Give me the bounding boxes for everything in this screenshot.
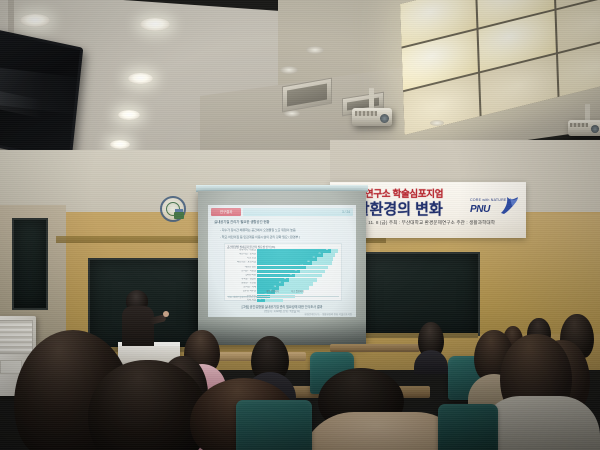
chart-bar-value: 32 xyxy=(279,282,281,284)
slide-section-tag: 연구결과 xyxy=(211,208,241,216)
chart-bar-value: 79 xyxy=(318,253,320,255)
projection-screen: 연구결과 3 / 24 실내공기질 관리가 필요한 생활공간 현황 - 다수가 … xyxy=(198,191,366,345)
recessed-downlight xyxy=(110,140,130,149)
chart-bar-primary xyxy=(257,266,306,270)
lecture-seat xyxy=(236,400,312,450)
chart-legend-item: 매우 필요하다 xyxy=(261,289,279,293)
chart-category-label: 실내주차장 xyxy=(227,274,257,278)
ceiling-mounted-monitor xyxy=(0,29,83,164)
chart-legend-swatch xyxy=(286,290,290,292)
chart-category-label: 음식점 · 카페 xyxy=(227,286,257,290)
chart-bar-value: 38 xyxy=(284,278,286,280)
chart-category-label: 지하역사 · 대합실 xyxy=(227,249,257,253)
chart-bar-track: 79 xyxy=(257,253,341,257)
chart-bar-value: 88 xyxy=(326,249,328,251)
chart-category-label: 영화관 · 공연장 xyxy=(227,282,257,286)
projector-vent xyxy=(570,123,588,127)
chart-bar-track: 9 xyxy=(257,299,341,303)
ac-cassette-grille xyxy=(287,83,327,106)
university-seal xyxy=(160,196,186,222)
slide-footer: 환경문제연구소 · 생활환경의 변화 학술심포지엄 xyxy=(305,312,352,316)
chart-bar-track: 66 xyxy=(257,261,341,265)
chart-bar-row: 목욕장 · 찜질방38 xyxy=(227,278,341,282)
recessed-downlight-ring xyxy=(430,120,444,126)
audience-torso xyxy=(480,396,600,450)
chart-bar-value: 45 xyxy=(290,274,292,276)
slide-page-number: 3 / 24 xyxy=(342,210,350,214)
projector-mount-rod xyxy=(369,88,374,110)
recessed-downlight-ring xyxy=(306,46,324,54)
presentation-slide: 연구결과 3 / 24 실내공기질 관리가 필요한 생활공간 현황 - 다수가 … xyxy=(208,205,356,317)
audience-member xyxy=(480,386,600,450)
chart-bar-track: 88 xyxy=(257,249,341,253)
projector-lens xyxy=(591,125,599,133)
chart-category-label: 의료기관 · 요양시설 xyxy=(227,261,257,265)
ceiling-projector xyxy=(352,108,392,126)
slide-chart: 공간유형별 실내공기질 관리 필요성 인식 (%) 지하역사 · 대합실88어린… xyxy=(224,243,342,301)
chart-bar-secondary xyxy=(284,282,313,286)
lecture-hall-photo: 환경연구소 학술심포지엄 생활환경의 변화 일시 : 2019. 11. 8 (… xyxy=(0,0,600,450)
chart-legend-item: 다소 필요하다 xyxy=(286,289,304,293)
chart-bar-track: 38 xyxy=(257,278,341,282)
chart-bar-value: 72 xyxy=(312,257,314,259)
chart-bar-secondary xyxy=(295,274,322,278)
chart-category-label: 목욕장 · 찜질방 xyxy=(227,278,257,282)
desk xyxy=(330,344,420,352)
chart-bar-row: 도서관 · 학습실51 xyxy=(227,270,341,274)
chart-bar-row: 학교 교실72 xyxy=(227,257,341,261)
chart-bar-value: 51 xyxy=(295,270,297,272)
chart-bar-row: 의료기관 · 요양시설66 xyxy=(227,261,341,265)
chart-legend-swatch xyxy=(261,290,265,292)
chart-category-label: 어린이집 · 유치원 xyxy=(227,253,257,257)
recessed-downlight xyxy=(20,14,50,27)
recessed-downlight-ring xyxy=(280,66,298,74)
slide-bullet-1: - 다수가 장시간 체류하는 공간에서 오염물질 노출 위험이 높음 xyxy=(220,227,296,232)
lecture-seat xyxy=(438,404,498,450)
chart-category-label: 학교 교실 xyxy=(227,257,257,261)
chart-bar-track: 72 xyxy=(257,257,341,261)
chart-bar-value: 26 xyxy=(274,286,276,288)
chart-bar-row: 대규모 점포58 xyxy=(227,266,341,270)
chart-legend: 매우 필요하다다소 필요하다 xyxy=(261,289,304,293)
slide-bullet-2: - 학교·어린이집 등 민감계층 이용시설의 관리 강화 필요 ( 환경부 ) xyxy=(220,234,300,239)
audience-torso xyxy=(414,350,448,374)
chart-bar-secondary xyxy=(331,249,339,253)
university-seal-ring xyxy=(166,202,180,216)
projector-lens xyxy=(380,114,389,123)
chart-source-note: 자료 : 환경부 실내공기질 관리 실태조사 (2018) xyxy=(228,296,267,299)
chart-category-label: 업무용 사무실 xyxy=(227,290,257,294)
chart-bar-track: 51 xyxy=(257,270,341,274)
pnu-logo: CORE with NATURE PNU xyxy=(468,196,520,222)
pnu-swoosh-icon xyxy=(498,196,520,216)
slide-title-bar: 3 / 24 xyxy=(243,208,353,216)
chart-bar-secondary xyxy=(265,299,283,303)
chart-bar-secondary xyxy=(306,266,329,270)
recessed-downlight xyxy=(128,73,153,84)
pnu-logo-wordmark: PNU xyxy=(470,204,490,215)
chart-bar-value: 58 xyxy=(301,265,303,267)
recessed-downlight xyxy=(118,110,140,120)
chart-bar-track: 58 xyxy=(257,266,341,270)
chart-bar-value: 66 xyxy=(307,261,309,263)
chart-legend-label: 다소 필요하다 xyxy=(291,289,304,293)
slide-bullet-0: 실내공기질 관리가 필요한 생활공간 현황 xyxy=(214,220,269,225)
chart-bar-row: 지하역사 · 대합실88 xyxy=(227,249,341,253)
chart-bar-row: 어린이집 · 유치원79 xyxy=(227,253,341,257)
chart-legend-label: 매우 필요하다 xyxy=(266,289,279,293)
chart-bar-row: 영화관 · 공연장32 xyxy=(227,282,341,286)
presenter-hand xyxy=(163,311,169,317)
chart-category-label: 도서관 · 학습실 xyxy=(227,270,257,274)
chart-bar-secondary xyxy=(300,270,325,274)
audience-member xyxy=(414,322,448,362)
chart-bar-secondary xyxy=(323,253,335,257)
chart-bar-secondary xyxy=(289,278,318,282)
chart-category-label: 대규모 점포 xyxy=(227,266,257,270)
recessed-downlight xyxy=(140,18,170,31)
chart-bar-primary xyxy=(257,270,300,274)
chart-bar-secondary xyxy=(312,261,331,265)
chart-bar-track: 32 xyxy=(257,282,341,286)
university-seal-mark xyxy=(174,212,184,219)
blackboard xyxy=(12,218,48,310)
chart-bar-secondary xyxy=(317,257,333,261)
ceiling-projector xyxy=(568,120,600,136)
projector-vent xyxy=(355,111,377,116)
chart-bar-track: 45 xyxy=(257,274,341,278)
chart-bar-primary xyxy=(257,261,312,265)
